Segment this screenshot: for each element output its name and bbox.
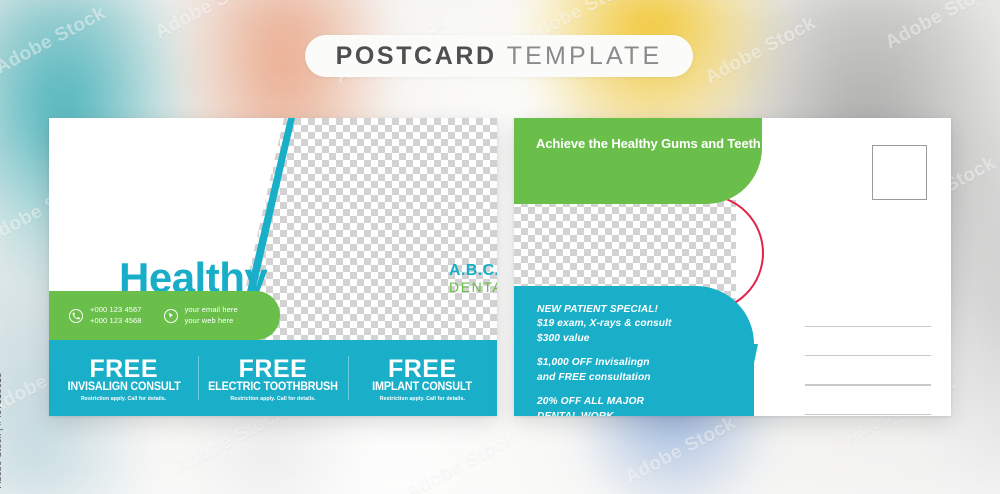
contact-phone-group: +000 123 4567 +000 123 4568 bbox=[69, 305, 142, 327]
page-title-pill: POSTCARD TEMPLATE bbox=[305, 35, 693, 77]
page-title-thin: TEMPLATE bbox=[507, 42, 663, 71]
front-contact-bar: +000 123 4567 +000 123 4568 your email h… bbox=[49, 291, 280, 340]
stamp-placeholder-box bbox=[872, 145, 927, 200]
cursor-icon bbox=[164, 309, 178, 323]
offer-item: FREE INVISALIGN CONSULT Restriction appl… bbox=[49, 340, 198, 416]
contact-phone-text: +000 123 4567 +000 123 4568 bbox=[90, 305, 142, 327]
address-line bbox=[805, 414, 931, 415]
contact-web-line: your web here bbox=[185, 316, 238, 327]
contact-phone-line-1: +000 123 4567 bbox=[90, 305, 142, 316]
back-offer-block: NEW PATIENT SPECIAL! $19 exam, X-rays & … bbox=[537, 303, 672, 346]
front-offer-band: FREE INVISALIGN CONSULT Restriction appl… bbox=[49, 340, 497, 416]
back-offer-block: 20% OFF ALL MAJOR DENTAL WORK bbox=[537, 395, 672, 416]
contact-web-text: your email here your web here bbox=[185, 305, 238, 327]
postcard-back: Achieve the Healthy Gums and Teeth You'v… bbox=[514, 118, 951, 416]
offer-name: IMPLANT CONSULT bbox=[372, 381, 472, 394]
logo-primary-text: A.B.C. bbox=[449, 263, 497, 280]
page-title-bold: POSTCARD bbox=[336, 42, 497, 71]
offer-note: Restriction apply. Call for details. bbox=[380, 396, 465, 402]
contact-email-line: your email here bbox=[185, 305, 238, 316]
address-lines bbox=[805, 326, 931, 415]
offer-free-label: FREE bbox=[89, 357, 158, 381]
logo-secondary-text: DENTAL bbox=[449, 280, 497, 295]
screenshot-canvas: Adobe Stock Adobe Stock Adobe Stock Adob… bbox=[0, 0, 1000, 494]
offer-item: FREE ELECTRIC TOOTHBRUSH Restriction app… bbox=[198, 340, 347, 416]
postcard-front: Healthy Teeth & Gums for Life! A.B.C. DE… bbox=[49, 118, 497, 416]
adobe-stock-watermark: Adobe Stock | #487318615 bbox=[0, 372, 3, 488]
offer-name: INVISALIGN CONSULT bbox=[67, 381, 180, 394]
offer-note: Restriction apply. Call for details. bbox=[81, 396, 166, 402]
offer-note: Restriction apply. Call for details. bbox=[230, 396, 315, 402]
offer-name: ELECTRIC TOOTHBRUSH bbox=[208, 381, 338, 394]
back-offer-block: $1,000 OFF Invisalingn and FREE consulta… bbox=[537, 356, 672, 385]
back-green-header bbox=[514, 118, 762, 204]
offer-free-label: FREE bbox=[388, 357, 457, 381]
offer-item: FREE IMPLANT CONSULT Restriction apply. … bbox=[348, 340, 497, 416]
phone-icon bbox=[69, 309, 83, 323]
address-line bbox=[805, 384, 931, 385]
back-headline: Achieve the Healthy Gums and Teeth You'v… bbox=[536, 135, 901, 152]
contact-web-group: your email here your web here bbox=[164, 305, 238, 327]
offer-free-label: FREE bbox=[239, 357, 308, 381]
address-line bbox=[805, 326, 931, 327]
back-offer-list: NEW PATIENT SPECIAL! $19 exam, X-rays & … bbox=[537, 303, 672, 416]
address-line bbox=[805, 355, 931, 356]
contact-phone-line-2: +000 123 4568 bbox=[90, 316, 142, 327]
brand-logo: A.B.C. DENTAL bbox=[449, 263, 497, 295]
